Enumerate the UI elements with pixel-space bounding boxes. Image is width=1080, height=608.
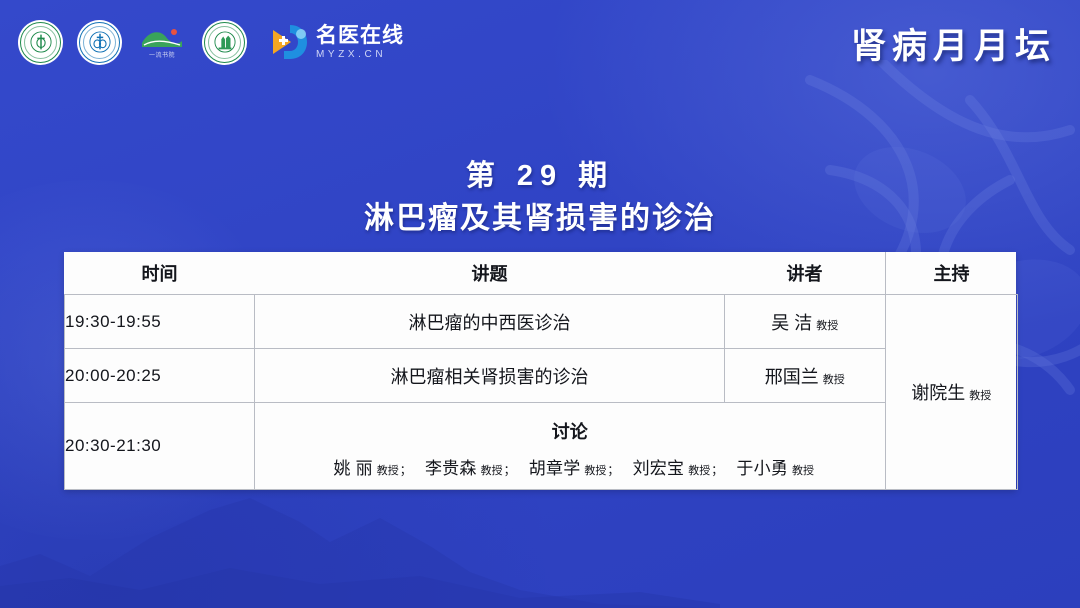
panelist-name: 胡章学 xyxy=(529,459,581,478)
table-row: 19:30-19:55 淋巴瘤的中西医诊治 吴 洁教授 谢院生教授 xyxy=(65,295,1018,349)
column-header-speaker: 讲者 xyxy=(725,252,886,295)
panelist-name: 刘宏宝 xyxy=(633,459,685,478)
slide-root: 一流书院 名医在线 MYZX.CN xyxy=(0,0,1080,608)
cell-discussion: 讨论 姚 丽教授；李贵森教授；胡章学教授；刘宏宝教授；于小勇教授 xyxy=(255,403,886,490)
table-row: 20:00-20:25 淋巴瘤相关肾损害的诊治 邢国兰教授 xyxy=(65,349,1018,403)
logo-green-medical-seal xyxy=(18,20,63,65)
schedule-table-container: 时间 讲题 讲者 主持 19:30-19:55 淋巴瘤的中西医诊治 吴 洁教授 … xyxy=(64,252,1016,490)
speaker-title: 教授 xyxy=(823,374,845,386)
panelist-title: 教授 xyxy=(792,465,814,477)
panelist-separator: ； xyxy=(504,463,516,477)
panelist-name: 于小勇 xyxy=(736,459,788,478)
panelist-name: 李贵森 xyxy=(425,459,477,478)
schedule-table-body: 19:30-19:55 淋巴瘤的中西医诊治 吴 洁教授 谢院生教授 20:00-… xyxy=(65,295,1018,490)
myzx-name-cn: 名医在线 xyxy=(316,25,404,46)
speaker-title: 教授 xyxy=(816,320,838,332)
panelist-separator: ； xyxy=(711,463,723,477)
panelist-title: 教授 xyxy=(584,465,606,477)
table-header-row: 时间 讲题 讲者 主持 xyxy=(65,252,1018,295)
session-topic-heading: 淋巴瘤及其肾损害的诊治 xyxy=(0,193,1080,237)
logo-academy-caption: 一流书院 xyxy=(149,50,175,59)
panelist-title: 教授 xyxy=(481,465,503,477)
cell-time: 19:30-19:55 xyxy=(65,295,255,349)
logo-green-university-seal xyxy=(202,20,247,65)
cell-host: 谢院生教授 xyxy=(885,295,1018,490)
logo-myzx: 名医在线 MYZX.CN xyxy=(267,21,404,63)
discussion-panelist-list: 姚 丽教授；李贵森教授；胡章学教授；刘宏宝教授；于小勇教授 xyxy=(255,454,885,479)
cell-time-discussion: 20:30-21:30 xyxy=(65,403,255,490)
panelist-name: 姚 丽 xyxy=(333,459,372,478)
discussion-label: 讨论 xyxy=(255,418,885,444)
host-name: 谢院生 xyxy=(911,383,965,403)
issue-number-heading: 第 29 期 xyxy=(0,152,1080,194)
myzx-play-icon xyxy=(267,21,309,63)
brand-title: 肾病月月坛 xyxy=(851,18,1056,69)
partner-logo-bar: 一流书院 名医在线 MYZX.CN xyxy=(18,16,404,68)
logo-academy-landscape: 一流书院 xyxy=(136,20,188,64)
cell-time: 20:00-20:25 xyxy=(65,349,255,403)
column-header-topic: 讲题 xyxy=(255,252,725,295)
myzx-name-en: MYZX.CN xyxy=(316,50,404,60)
schedule-table-head: 时间 讲题 讲者 主持 xyxy=(65,252,1018,295)
schedule-table: 时间 讲题 讲者 主持 19:30-19:55 淋巴瘤的中西医诊治 吴 洁教授 … xyxy=(64,252,1018,490)
table-row-discussion: 20:30-21:30 讨论 姚 丽教授；李贵森教授；胡章学教授；刘宏宝教授；于… xyxy=(65,403,1018,490)
panelist-title: 教授 xyxy=(377,465,399,477)
speaker-name: 邢国兰 xyxy=(765,367,819,387)
cell-topic: 淋巴瘤的中西医诊治 xyxy=(255,295,725,349)
logo-blue-medical-seal xyxy=(77,20,122,65)
panelist-separator: ； xyxy=(607,463,619,477)
column-header-time: 时间 xyxy=(65,252,255,295)
panelist-title: 教授 xyxy=(688,465,710,477)
cell-speaker: 邢国兰教授 xyxy=(725,349,886,403)
speaker-name: 吴 洁 xyxy=(771,313,812,333)
cell-speaker: 吴 洁教授 xyxy=(725,295,886,349)
panelist-separator: ； xyxy=(400,463,412,477)
column-header-host: 主持 xyxy=(885,252,1018,295)
cell-topic: 淋巴瘤相关肾损害的诊治 xyxy=(255,349,725,403)
host-title: 教授 xyxy=(969,390,991,402)
